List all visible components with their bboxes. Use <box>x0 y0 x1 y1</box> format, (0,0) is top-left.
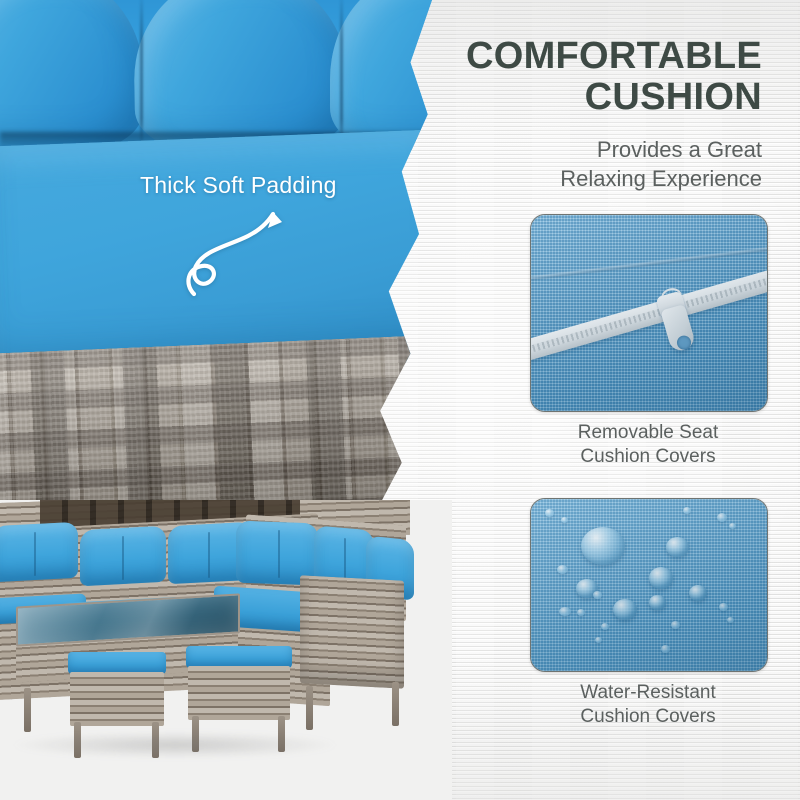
cushion-tuft-1 <box>34 532 36 576</box>
fabric-shading <box>531 215 767 411</box>
ottoman-left-frame <box>70 672 164 726</box>
ottoman-left-cushion <box>68 652 166 674</box>
ottoman-right-frame <box>188 666 290 720</box>
feature-card-2-caption: Water-Resistant Cushion Covers <box>530 681 766 730</box>
page-subtitle: Provides a Great Relaxing Experience <box>410 136 762 193</box>
feature-card-removable-covers: Removable Seat Cushion Covers <box>530 214 766 470</box>
caption-1-line-1: Removable Seat <box>530 421 766 445</box>
caption-1-line-2: Cushion Covers <box>530 445 766 469</box>
page-title: COMFORTABLE CUSHION <box>410 36 762 118</box>
feature-card-water-resistant: Water-Resistant Cushion Covers <box>530 498 766 730</box>
fabric-shading-2 <box>531 499 767 671</box>
water-droplets-photo <box>530 498 768 672</box>
back-cushion-1 <box>0 522 78 583</box>
thick-soft-padding-label: Thick Soft Padding <box>140 172 390 199</box>
infographic-canvas: Thick Soft Padding <box>0 0 800 800</box>
pillow-seam-left <box>140 0 143 150</box>
curly-arrow-icon <box>178 206 298 298</box>
subheadline-line-2: Relaxing Experience <box>410 165 762 194</box>
rattan-shading <box>0 334 432 520</box>
cushion-tuft-2 <box>122 536 124 580</box>
headline-line-2: CUSHION <box>410 77 762 118</box>
ottoman-right-cushion <box>186 646 292 668</box>
caption-2-line-1: Water-Resistant <box>530 681 766 705</box>
pillow-seam-right <box>340 0 343 150</box>
rattan-weave-closeup <box>0 334 432 520</box>
cushion-tuft-3 <box>208 532 210 578</box>
cushion-tuft-4 <box>278 530 280 578</box>
back-pillow-center <box>132 0 349 152</box>
headline-line-1: COMFORTABLE <box>410 36 762 77</box>
back-pillow-left <box>0 0 144 150</box>
rattan-sectional-sofa-set-photo <box>0 500 452 800</box>
ottoman-left <box>68 652 166 728</box>
sofa-leg-left <box>24 688 31 732</box>
furniture-floor-shadow <box>10 732 340 758</box>
zipper-closeup-photo <box>530 214 768 412</box>
caption-2-line-2: Cushion Covers <box>530 705 766 729</box>
sofa-leg-right-front <box>306 686 313 730</box>
feature-card-1-caption: Removable Seat Cushion Covers <box>530 421 766 470</box>
sofa-leg-right-back <box>392 682 399 726</box>
ottoman-right <box>186 646 292 724</box>
subheadline-line-1: Provides a Great <box>410 136 762 165</box>
sofa-arm-right <box>300 575 404 688</box>
